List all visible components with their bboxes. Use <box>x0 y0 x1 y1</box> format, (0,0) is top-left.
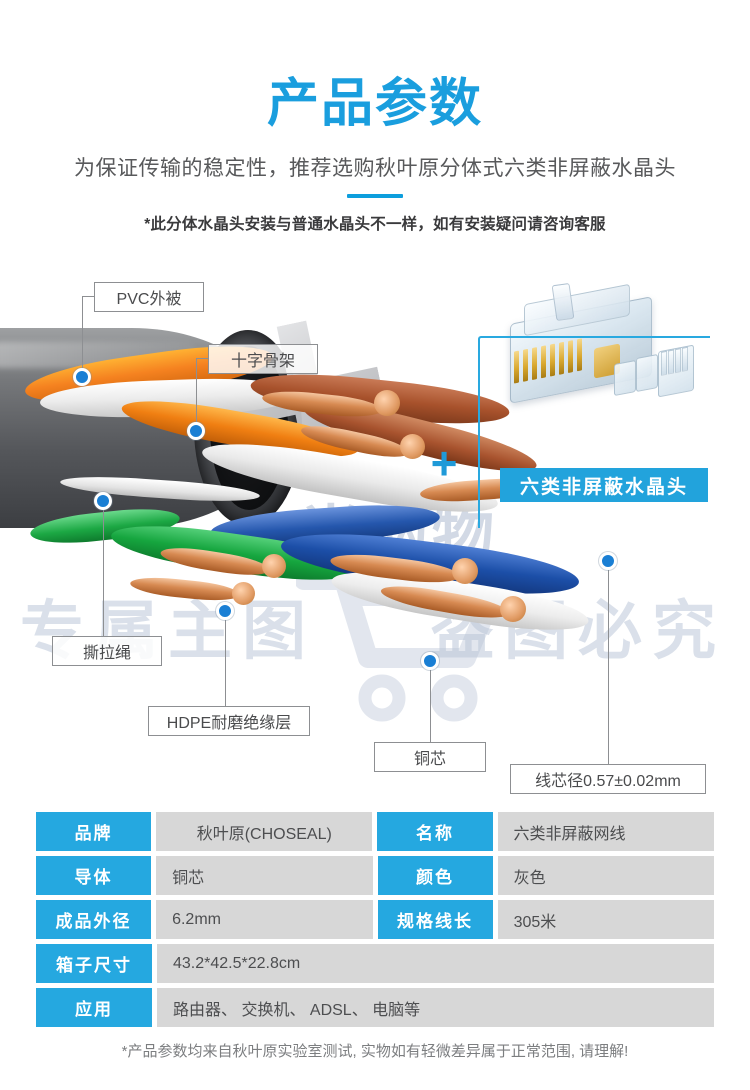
spec-value-brand: 秋叶原(CHOSEAL) <box>156 812 372 851</box>
table-row: 品牌 秋叶原(CHOSEAL) 名称 六类非屏蔽网线 <box>36 812 714 851</box>
spec-label-name: 名称 <box>377 812 492 851</box>
spec-label-outer-diameter: 成品外径 <box>36 900 151 939</box>
callout-label-cross-skeleton: 十字骨架 <box>208 344 318 374</box>
copper-core-end-1 <box>374 390 400 416</box>
callout-dot-core-diameter <box>599 552 617 570</box>
table-row: 成品外径 6.2mm 规格线长 305米 <box>36 900 714 939</box>
page-header: 产品参数 为保证传输的稳定性，推荐选购秋叶原分体式六类非屏蔽水晶头 *此分体水晶… <box>0 0 750 234</box>
spec-label-box-size: 箱子尺寸 <box>36 944 152 983</box>
spec-value-color: 灰色 <box>498 856 714 895</box>
spec-label-application: 应用 <box>36 988 152 1027</box>
copper-core-end-4 <box>500 596 526 622</box>
callout-leader-h-cross <box>196 358 208 359</box>
callout-label-pvc: PVC外被 <box>94 282 204 312</box>
callout-leader-v-cross <box>196 358 197 426</box>
callout-dot-cross-skeleton <box>187 422 205 440</box>
copper-core-end-3 <box>452 558 478 584</box>
table-row: 应用 路由器、 交换机、 ADSL、 电脑等 <box>36 988 714 1027</box>
page-title: 产品参数 <box>0 78 750 130</box>
connector-label: 六类非屏蔽水晶头 <box>500 468 708 502</box>
table-row: 导体 铜芯 颜色 灰色 <box>36 856 714 895</box>
spec-label-brand: 品牌 <box>36 812 151 851</box>
copper-core-end-5 <box>262 554 286 578</box>
spec-value-length: 305米 <box>498 900 714 939</box>
table-row: 箱子尺寸 43.2*42.5*22.8cm <box>36 944 714 983</box>
callout-dot-pvc <box>73 368 91 386</box>
spec-value-box-size: 43.2*42.5*22.8cm <box>157 944 714 983</box>
rj45-latch-tab <box>552 283 575 321</box>
spec-value-name: 六类非屏蔽网线 <box>498 812 714 851</box>
callout-leader-v-copper <box>430 660 431 742</box>
callout-leader-v-hdpe <box>225 610 226 706</box>
copper-core-end-2 <box>400 434 425 459</box>
callout-leader-v-diameter <box>608 560 609 764</box>
spec-table: 品牌 秋叶原(CHOSEAL) 名称 六类非屏蔽网线 导体 铜芯 颜色 灰色 成… <box>36 812 714 1032</box>
copper-core-end-6 <box>232 582 255 605</box>
title-divider <box>347 194 403 198</box>
product-spec-page: 产品参数 为保证传输的稳定性，推荐选购秋叶原分体式六类非屏蔽水晶头 *此分体水晶… <box>0 0 750 1090</box>
spec-value-outer-diameter: 6.2mm <box>156 900 372 939</box>
callout-leader-h-pvc <box>82 296 94 297</box>
spec-value-application: 路由器、 交换机、 ADSL、 电脑等 <box>157 988 714 1027</box>
spec-label-conductor: 导体 <box>36 856 151 895</box>
footnote-disclaimer: *产品参数均来自秋叶原实验室测试, 实物如有轻微差异属于正常范围, 请理解! <box>0 1040 750 1061</box>
callout-leader-v-ripcord <box>103 500 104 636</box>
callout-label-hdpe: HDPE耐磨绝缘层 <box>148 706 310 736</box>
callout-dot-hdpe <box>216 602 234 620</box>
callout-label-copper-core: 铜芯 <box>374 742 486 772</box>
callout-dot-copper-core <box>421 652 439 670</box>
callout-leader-v-pvc <box>82 296 83 372</box>
page-subtitle: 为保证传输的稳定性，推荐选购秋叶原分体式六类非屏蔽水晶头 <box>0 152 750 182</box>
spec-label-length: 规格线长 <box>378 900 493 939</box>
callout-label-ripcord: 撕拉绳 <box>52 636 162 666</box>
plus-symbol: + <box>424 444 464 484</box>
spec-label-color: 颜色 <box>378 856 493 895</box>
spec-value-conductor: 铜芯 <box>156 856 372 895</box>
callout-label-core-diameter: 线芯径0.57±0.02mm <box>510 764 706 794</box>
installation-note: *此分体水晶头安装与普通水晶头不一样，如有安装疑问请咨询客服 <box>0 212 750 234</box>
callout-dot-ripcord <box>94 492 112 510</box>
cable-illustration: 尚购物 专属主图 盗图必究 <box>0 262 750 802</box>
